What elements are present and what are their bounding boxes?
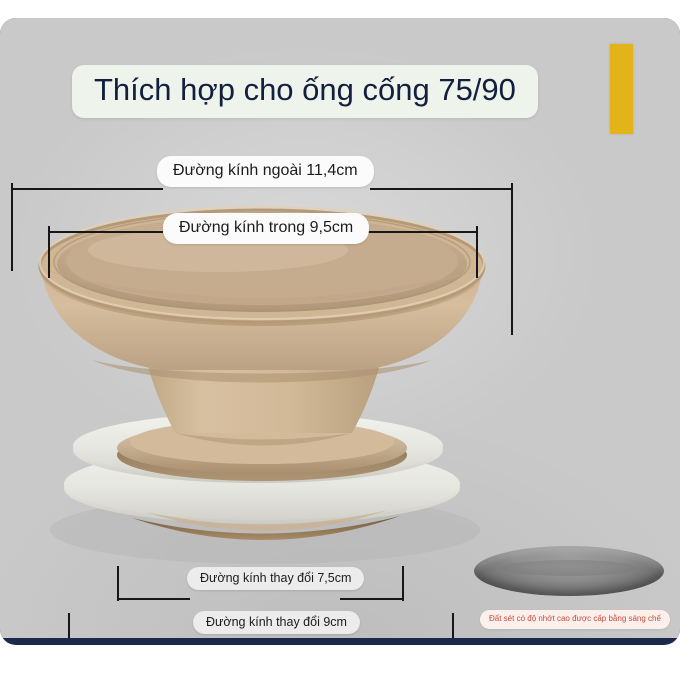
clay-seal-hole (500, 560, 638, 576)
dim-inner-line-left (48, 231, 163, 233)
accent-strip (610, 44, 633, 134)
dimension-label-adjustable-large: Đường kính thay đổi 9cm (193, 611, 360, 634)
dim-adj-small-right-tick (402, 566, 404, 601)
product-photo-canvas: Đường kính ngoài 11,4cm Đường kính trong… (0, 18, 680, 638)
dim-adj-small-left-tick (117, 566, 119, 601)
product-title-box: Thích hợp cho ống cống 75/90 (72, 65, 538, 118)
dimension-label-adjustable-small: Đường kính thay đổi 7,5cm (187, 567, 364, 590)
product-neck (140, 318, 387, 433)
dim-inner-right-tick (476, 226, 478, 278)
tan-base-ring (117, 420, 407, 481)
product-body (42, 270, 482, 370)
dim-adj-large-right-tick (452, 613, 454, 638)
product-image-frame: Đường kính ngoài 11,4cm Đường kính trong… (0, 18, 680, 645)
dim-outer-line-right (370, 188, 512, 190)
dim-inner-left-tick (48, 226, 50, 278)
clay-seal-ring-icon (474, 546, 664, 596)
screenshot-root: Đường kính ngoài 11,4cm Đường kính trong… (0, 0, 680, 680)
dim-adj-small-line-left (117, 598, 190, 600)
dimension-label-outer-diameter: Đường kính ngoài 11,4cm (157, 156, 374, 187)
clay-seal-caption: Đất sét có độ nhớt cao được cấp bằng sán… (480, 610, 670, 629)
adjustable-disc-lower (64, 448, 460, 524)
dim-adj-large-left-tick (68, 613, 70, 638)
dim-outer-left-tick (11, 183, 13, 271)
clay-seal-inset: Đất sét có độ nhớt cao được cấp bằng sán… (474, 542, 664, 604)
dim-adj-small-line-right (340, 598, 404, 600)
adjustable-disc-upper (73, 413, 443, 483)
dim-outer-right-tick (511, 183, 513, 335)
dim-inner-line-right (360, 231, 478, 233)
dim-outer-line-left (11, 188, 163, 190)
dimension-label-inner-diameter: Đường kính trong 9,5cm (163, 213, 369, 244)
product-title: Thích hợp cho ống cống 75/90 (94, 73, 516, 107)
